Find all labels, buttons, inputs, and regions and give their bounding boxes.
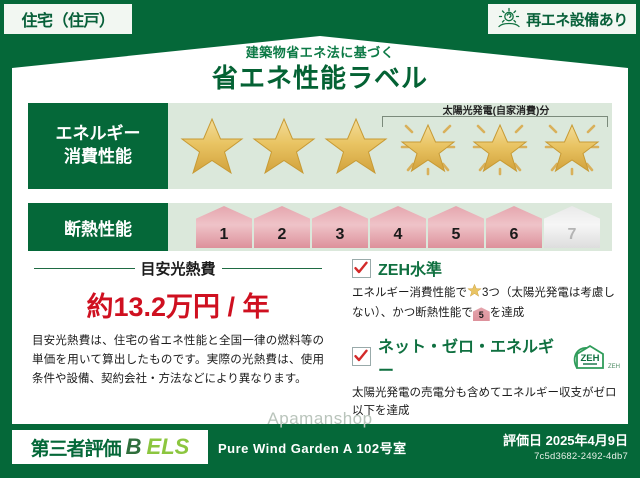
insulation-grade-7: 7	[544, 206, 600, 248]
net-zero-energy-row: ネット・ゼロ・エネルギー ZEH ZEH	[352, 333, 620, 381]
inline-star-icon	[467, 283, 482, 304]
watermark: Apamanshop	[0, 409, 640, 429]
heading-rule-left	[34, 268, 135, 270]
estimated-cost-heading: 目安光熱費	[34, 258, 322, 279]
insulation-grade-2: 2	[254, 206, 310, 248]
zeh-logo-icon: ZEH ZEH	[573, 344, 620, 370]
grade-number: 4	[394, 226, 403, 244]
grade-number: 7	[568, 226, 577, 244]
grade-number: 6	[510, 226, 519, 244]
solar-portion-bracket	[382, 116, 608, 127]
sun-icon	[496, 7, 522, 31]
insulation-label: 断熱性能	[28, 203, 168, 251]
energy-label-line2: 消費性能	[64, 146, 132, 169]
estimated-cost-note: 目安光熱費は、住宅の省エネ性能と全国一律の燃料等の単価を用いて算出したものです。…	[28, 332, 328, 389]
zeh-standard-description: エネルギー消費性能で 3つ（太陽光発電は考慮しない）、かつ断熱性能で5を達成	[352, 283, 620, 323]
insulation-grade-4: 4	[370, 206, 426, 248]
star-icon	[178, 114, 246, 180]
zeh-standard-row: ZEH水準	[352, 256, 620, 280]
zeh-desc-part1: エネルギー消費性能で	[352, 287, 467, 299]
criteria-section: ZEH水準 エネルギー消費性能で 3つ（太陽光発電は考慮しない）、かつ断熱性能で…	[352, 256, 620, 431]
grade-number: 1	[220, 226, 229, 244]
inline-grade-badge: 5	[473, 307, 490, 321]
estimated-cost-value: 約13.2万円 / 年	[28, 285, 328, 324]
evaluation-date-value: 2025年4月9日	[546, 433, 628, 448]
label-title: 省エネ性能ラベル	[0, 58, 640, 95]
evaluation-id: 7c5d3682-2492-4db7	[503, 451, 628, 462]
insulation-grade-3: 3	[312, 206, 368, 248]
insulation-grade-1: 1	[196, 206, 252, 248]
zeh-logo-subtext: ZEH	[608, 364, 620, 370]
bels-logo: 第三者評価 BELS	[12, 430, 208, 464]
star-icon	[250, 114, 318, 180]
net-zero-energy-title: ネット・ゼロ・エネルギー	[378, 333, 566, 381]
zeh-standard-title: ZEH水準	[378, 256, 442, 280]
house-type-label: 住宅（住戸）	[21, 7, 114, 31]
insulation-row: 断熱性能 1 2 3 4 5 6 7	[28, 203, 612, 251]
property-name: Pure Wind Garden A 102号室	[218, 438, 407, 457]
house-type-tag: 住宅（住戸）	[4, 4, 132, 34]
checkbox-checked-icon	[352, 259, 371, 278]
heading-rule-right	[222, 268, 323, 270]
estimated-cost-section: 目安光熱費 約13.2万円 / 年 目安光熱費は、住宅の省エネ性能と全国一律の燃…	[28, 258, 328, 389]
grade-number: 5	[452, 226, 461, 244]
evaluation-date: 評価日 2025年4月9日	[503, 430, 628, 449]
renewable-energy-label: 再エネ設備あり	[526, 9, 628, 30]
energy-label-line1: エネルギー	[56, 123, 141, 146]
grade-number: 3	[336, 226, 345, 244]
estimated-cost-heading-text: 目安光熱費	[141, 258, 216, 279]
insulation-grade-6: 6	[486, 206, 542, 248]
bels-logo-b: B	[126, 434, 142, 460]
footer-bar: 第三者評価 BELS Pure Wind Garden A 102号室 評価日 …	[0, 424, 640, 478]
zeh-desc-part3: を達成	[490, 307, 525, 319]
bels-third-party-label: 第三者評価	[31, 434, 121, 461]
insulation-grade-5: 5	[428, 206, 484, 248]
insulation-grade-scale: 1 2 3 4 5 6 7	[196, 206, 600, 248]
evaluation-date-label: 評価日	[503, 433, 542, 448]
bels-logo-els: ELS	[147, 434, 190, 460]
renewable-energy-tag: 再エネ設備あり	[488, 4, 636, 34]
svg-text:ZEH: ZEH	[581, 353, 600, 364]
grade-number: 2	[278, 226, 287, 244]
evaluation-info: 評価日 2025年4月9日 7c5d3682-2492-4db7	[503, 430, 628, 462]
checkbox-checked-icon	[352, 347, 371, 366]
energy-consumption-label: エネルギー 消費性能	[28, 103, 168, 189]
